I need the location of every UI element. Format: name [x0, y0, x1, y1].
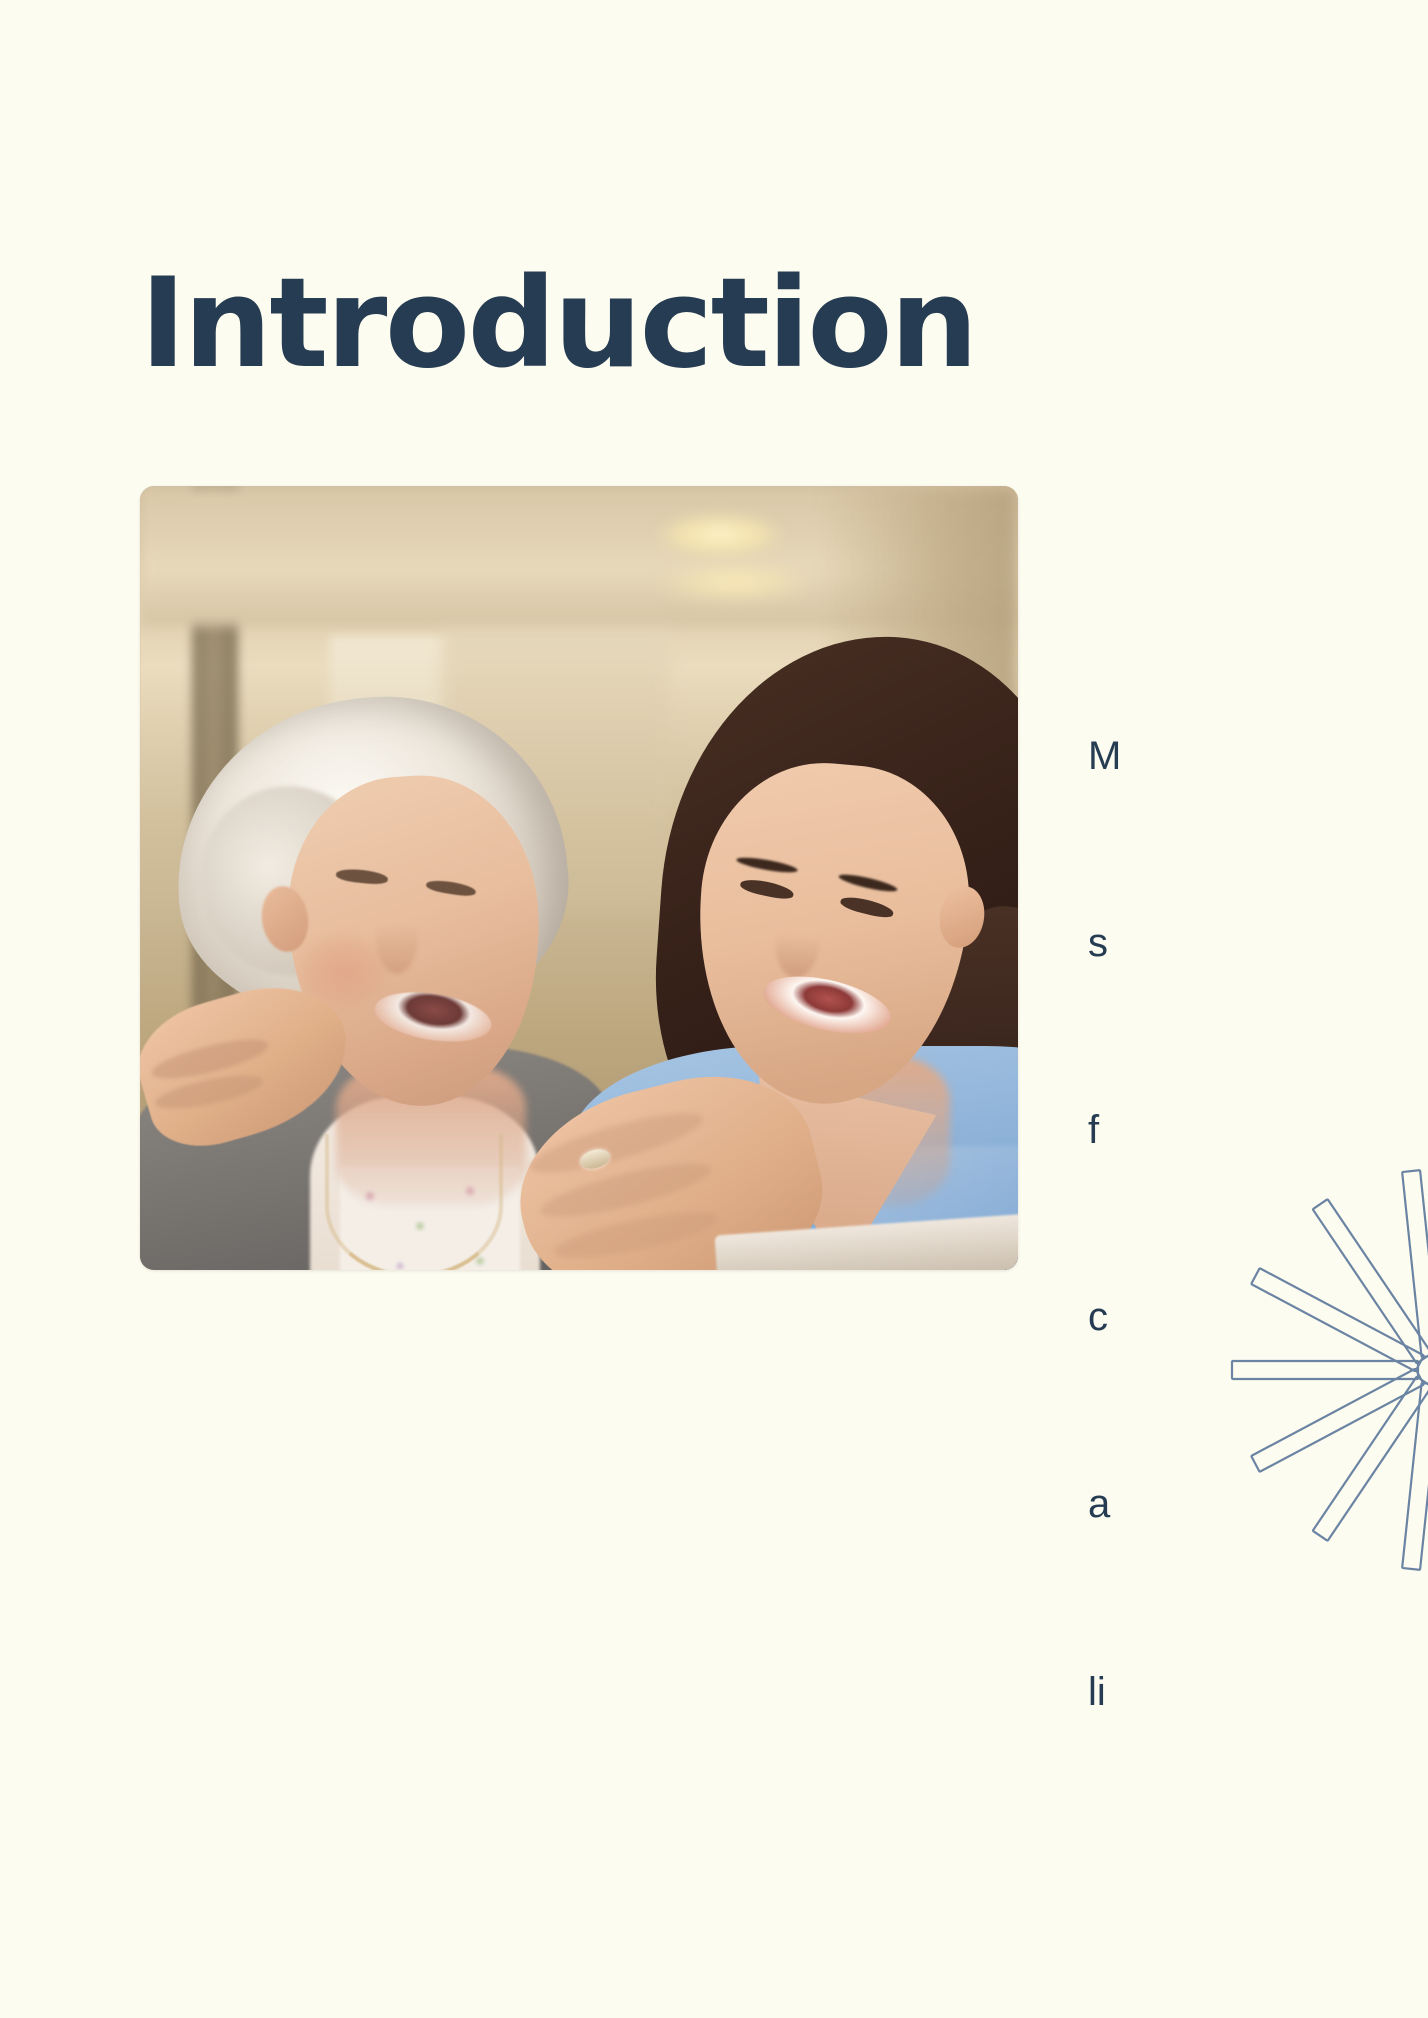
body-line: f [1088, 1099, 1388, 1161]
body-text-column: M s f c a li [1088, 600, 1388, 1848]
slide-canvas: Introduction [0, 0, 1428, 2018]
hero-photo [140, 486, 1018, 1270]
photo-ceiling-light [660, 514, 780, 556]
photo-ceiling-light-2 [660, 566, 810, 600]
body-line: a [1088, 1473, 1388, 1535]
elderly-necklace [325, 1134, 503, 1270]
body-line: M [1088, 725, 1388, 787]
body-line: c [1088, 1286, 1388, 1348]
elderly-nose [376, 898, 418, 974]
page-title: Introduction [140, 262, 976, 386]
body-line: li [1088, 1661, 1388, 1723]
body-line: s [1088, 912, 1388, 974]
